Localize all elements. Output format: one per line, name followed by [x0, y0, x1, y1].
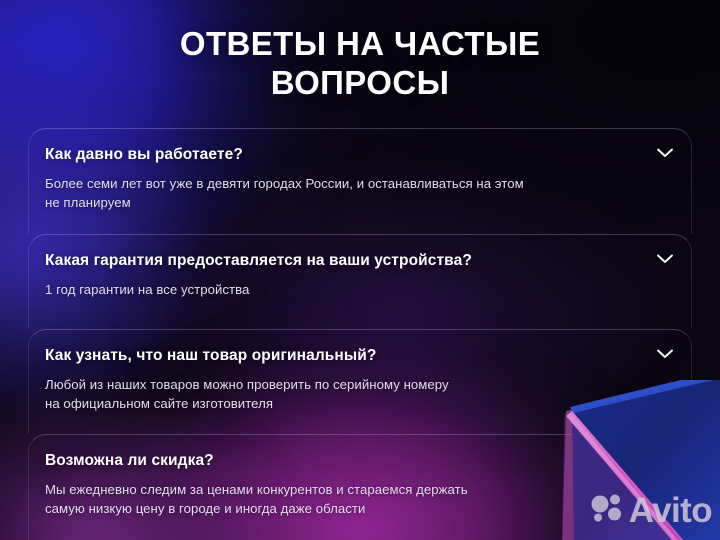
- faq-item[interactable]: Какая гарантия предоставляется на ваши у…: [28, 234, 692, 329]
- chevron-down-icon[interactable]: [653, 344, 677, 364]
- faq-screen: ОТВЕТЫ НА ЧАСТЫЕ ВОПРОСЫ Как давно вы ра…: [0, 0, 720, 540]
- faq-question[interactable]: Как давно вы работаете?: [45, 145, 633, 165]
- faq-question[interactable]: Возможна ли скидка?: [45, 451, 633, 471]
- page-title-line-2: ВОПРОСЫ: [70, 63, 650, 102]
- faq-accordion: Как давно вы работаете? Более семи лет в…: [28, 128, 692, 540]
- faq-answer: Любой из наших товаров можно проверить п…: [45, 375, 625, 413]
- faq-answer: Более семи лет вот уже в девяти городах …: [45, 174, 625, 212]
- chevron-down-icon[interactable]: [653, 449, 677, 469]
- faq-item[interactable]: Как узнать, что наш товар оригинальный? …: [28, 329, 692, 434]
- faq-answer: 1 год гарантии на все устройства: [45, 280, 625, 299]
- avito-wordmark: Avito: [629, 493, 712, 528]
- avito-watermark: Avito: [590, 493, 712, 528]
- avito-dots-logo-icon: [590, 493, 624, 528]
- page-title-line-1: ОТВЕТЫ НА ЧАСТЫЕ: [70, 24, 650, 63]
- faq-question[interactable]: Какая гарантия предоставляется на ваши у…: [45, 251, 633, 271]
- faq-question[interactable]: Как узнать, что наш товар оригинальный?: [45, 346, 633, 366]
- chevron-down-icon[interactable]: [653, 249, 677, 269]
- page-title: ОТВЕТЫ НА ЧАСТЫЕ ВОПРОСЫ: [0, 24, 720, 102]
- faq-answer: Мы ежедневно следим за ценами конкуренто…: [45, 480, 625, 518]
- chevron-down-icon[interactable]: [653, 143, 677, 163]
- faq-item[interactable]: Как давно вы работаете? Более семи лет в…: [28, 128, 692, 234]
